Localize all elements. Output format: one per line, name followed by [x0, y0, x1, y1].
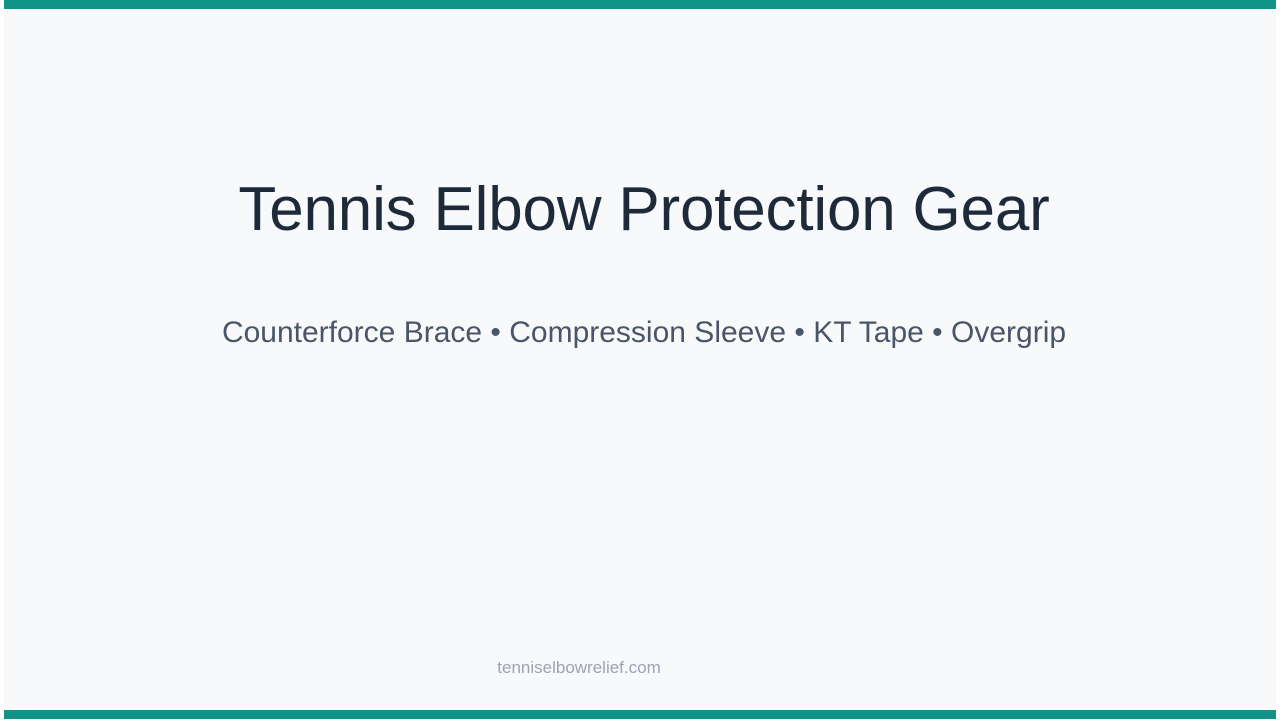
slide-subtitle: Counterforce Brace • Compression Sleeve …	[4, 313, 1276, 352]
title-slide: Tennis Elbow Protection Gear Counterforc…	[0, 0, 1280, 720]
title-block: Tennis Elbow Protection Gear	[4, 176, 1276, 244]
bottom-accent-bar	[4, 710, 1276, 719]
subtitle-block: Counterforce Brace • Compression Sleeve …	[4, 313, 1276, 352]
top-accent-bar	[4, 0, 1276, 9]
slide-title: Tennis Elbow Protection Gear	[4, 176, 1276, 244]
footer-block: tenniselbowrelief.com	[8, 658, 1150, 678]
slide-canvas: Tennis Elbow Protection Gear Counterforc…	[4, 0, 1276, 719]
footer-source-label: tenniselbowrelief.com	[8, 658, 1150, 678]
